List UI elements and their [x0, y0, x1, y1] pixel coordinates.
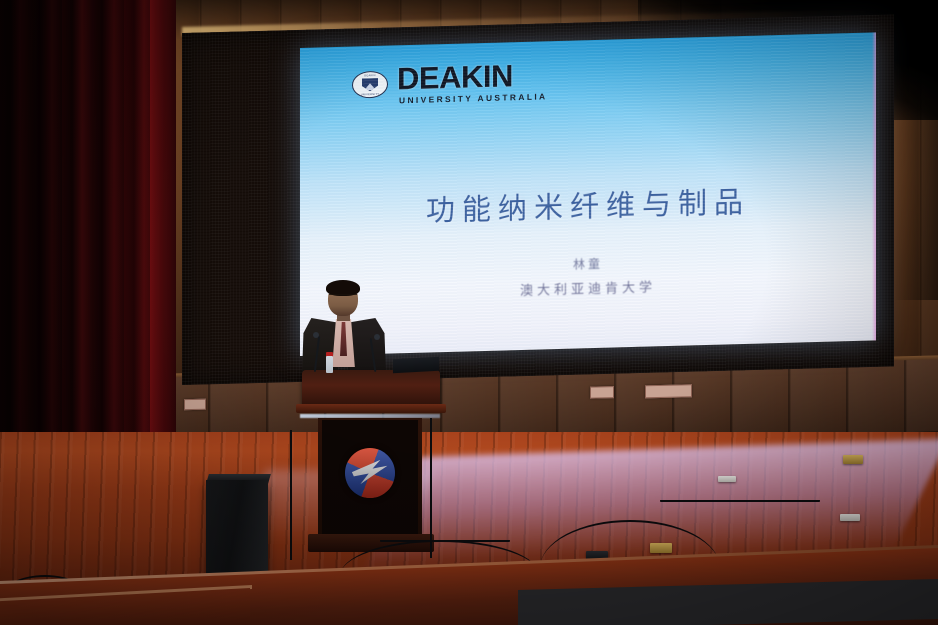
podium-top — [302, 370, 440, 408]
stage-shadow-right — [892, 0, 938, 300]
crest-bottom-text: UNIVERSITY — [361, 93, 380, 97]
deakin-logo: DEAKIN UNIVERSITY DEAKIN UNIVERSITY AUST… — [352, 59, 548, 106]
presenter-jacket-right — [348, 318, 386, 376]
glasses-icon — [329, 294, 357, 300]
curtain-left-edge — [150, 0, 176, 470]
brand-tagline: UNIVERSITY AUSTRALIA — [399, 92, 548, 104]
brand-name: DEAKIN — [397, 59, 548, 94]
brand-wordmark: DEAKIN UNIVERSITY AUSTRALIA — [397, 59, 548, 104]
floor-paper — [718, 476, 736, 482]
stage-cable — [430, 418, 438, 558]
stage-cable — [290, 430, 306, 560]
wall-plate — [590, 386, 614, 399]
floor-monitor-loudspeaker — [206, 480, 268, 576]
floor-paper — [840, 514, 860, 521]
presentation-photo-scene: DEAKIN UNIVERSITY DEAKIN UNIVERSITY AUST… — [0, 0, 938, 625]
laptop — [393, 357, 439, 373]
deakin-crest-icon: DEAKIN UNIVERSITY — [352, 71, 388, 99]
crest-shield-icon — [362, 78, 378, 91]
slide-title: 功能纳米纤维与制品 — [300, 175, 876, 233]
podium-lip — [296, 404, 446, 413]
floor-stage-box — [843, 455, 863, 464]
presentation-slide: DEAKIN UNIVERSITY DEAKIN UNIVERSITY AUST… — [300, 32, 876, 356]
wall-plate — [184, 399, 206, 411]
microphone-right-head — [374, 334, 380, 340]
wall-plate — [645, 384, 692, 398]
crest-top-text: DEAKIN — [364, 74, 375, 77]
microphone-left-head — [313, 332, 319, 338]
podium-emblem-icon — [345, 448, 395, 498]
water-bottle — [326, 356, 333, 373]
